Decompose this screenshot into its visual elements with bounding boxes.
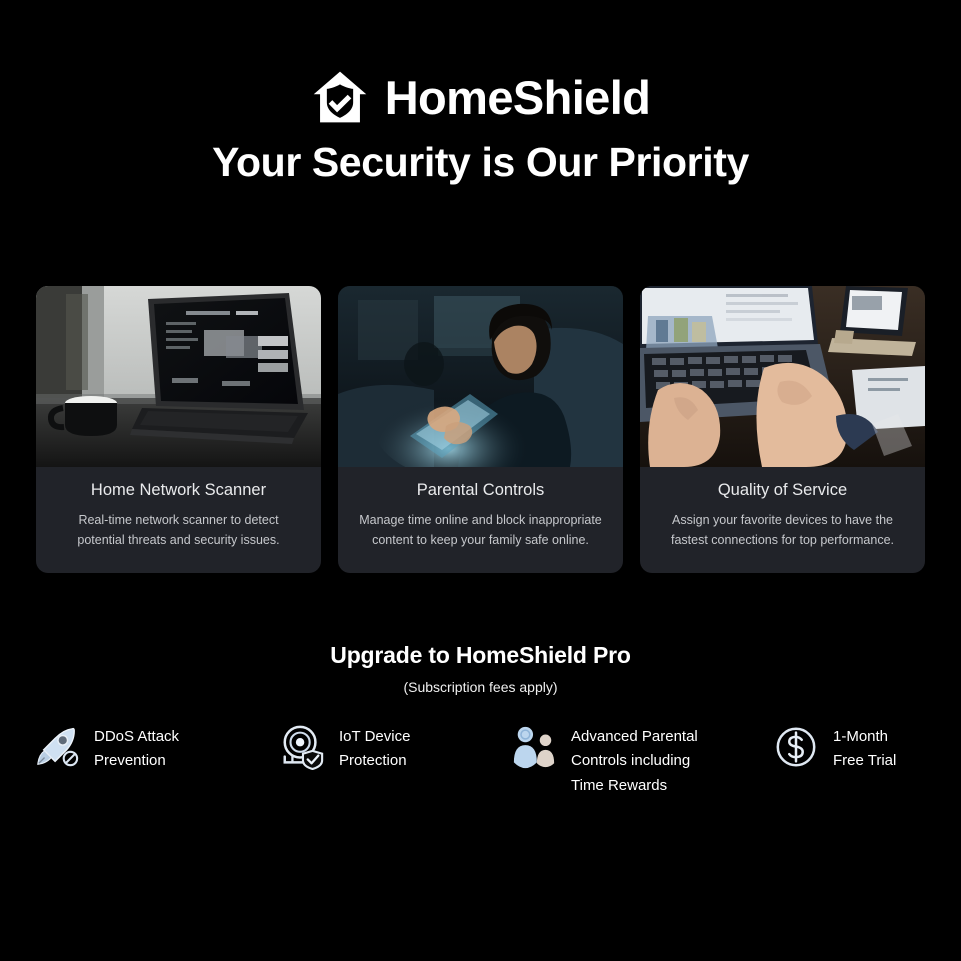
- perk-one-month-free-trial: 1-Month Free Trial: [773, 722, 932, 774]
- page-header: HomeShield Your Security is Our Priority: [0, 0, 961, 185]
- perk-label: DDoS Attack Prevention: [94, 722, 179, 774]
- page-tagline: Your Security is Our Priority: [0, 140, 961, 185]
- perk-label-line: DDoS Attack: [94, 728, 179, 745]
- pro-perks-list: DDoS Attack Prevention IoT Device Protec…: [34, 722, 932, 798]
- feature-card-quality-of-service[interactable]: Quality of Service Assign your favorite …: [640, 286, 925, 573]
- feature-card-desc-line: fastest connections for top performance.: [656, 530, 909, 551]
- feature-card-description: Assign your favorite devices to have the…: [656, 510, 909, 551]
- feature-card-body: Quality of Service Assign your favorite …: [640, 467, 925, 573]
- upgrade-subtitle: (Subscription fees apply): [0, 679, 961, 696]
- perk-label-line: Controls including: [571, 752, 690, 769]
- upgrade-section: Upgrade to HomeShield Pro (Subscription …: [0, 642, 961, 695]
- perk-label-line: 1-Month: [833, 728, 888, 745]
- perk-label-line: IoT Device: [339, 728, 410, 745]
- feature-card-parental-controls[interactable]: Parental Controls Manage time online and…: [338, 286, 623, 573]
- perk-label-line: Advanced Parental: [571, 728, 698, 745]
- feature-cards: Home Network Scanner Real-time network s…: [36, 286, 925, 573]
- perk-label: Advanced Parental Controls including Tim…: [571, 722, 698, 798]
- upgrade-title: Upgrade to HomeShield Pro: [0, 642, 961, 670]
- perk-ddos-attack-prevention: DDoS Attack Prevention: [34, 722, 279, 774]
- feature-card-desc-line: Manage time online and block inappropria…: [354, 510, 607, 531]
- perk-advanced-parental-controls: Advanced Parental Controls including Tim…: [511, 722, 773, 798]
- feature-card-desc-line: Real-time network scanner to detect: [52, 510, 305, 531]
- dollar-circle-icon: [773, 724, 819, 770]
- feature-card-body: Home Network Scanner Real-time network s…: [36, 467, 321, 573]
- parent-child-icon: [511, 724, 557, 770]
- feature-card-desc-line: content to keep your family safe online.: [354, 530, 607, 551]
- perk-label: IoT Device Protection: [339, 722, 410, 774]
- perk-label-line: Prevention: [94, 752, 166, 769]
- feature-card-home-network-scanner[interactable]: Home Network Scanner Real-time network s…: [36, 286, 321, 573]
- brand-row: HomeShield: [0, 66, 961, 128]
- brand-name: HomeShield: [385, 74, 651, 121]
- feature-card-title: Parental Controls: [354, 481, 607, 501]
- laptop-network-scan-photo: [36, 286, 321, 467]
- perk-iot-device-protection: IoT Device Protection: [279, 722, 511, 774]
- feature-card-desc-line: potential threats and security issues.: [52, 530, 305, 551]
- perk-label-line: Time Rewards: [571, 777, 667, 794]
- hands-typing-laptop-photo: [640, 286, 925, 467]
- child-tablet-photo: [338, 286, 623, 467]
- feature-card-desc-line: Assign your favorite devices to have the: [656, 510, 909, 531]
- feature-card-body: Parental Controls Manage time online and…: [338, 467, 623, 573]
- perk-label: 1-Month Free Trial: [833, 722, 896, 774]
- rocket-blocked-icon: [34, 724, 80, 770]
- home-shield-check-icon: [311, 68, 369, 126]
- feature-card-description: Real-time network scanner to detect pote…: [52, 510, 305, 551]
- feature-card-description: Manage time online and block inappropria…: [354, 510, 607, 551]
- perk-label-line: Free Trial: [833, 752, 896, 769]
- feature-card-title: Quality of Service: [656, 481, 909, 501]
- perk-label-line: Protection: [339, 752, 407, 769]
- feature-card-title: Home Network Scanner: [52, 481, 305, 501]
- webcam-shield-icon: [279, 724, 325, 770]
- homeshield-promo-page: HomeShield Your Security is Our Priority: [0, 0, 961, 961]
